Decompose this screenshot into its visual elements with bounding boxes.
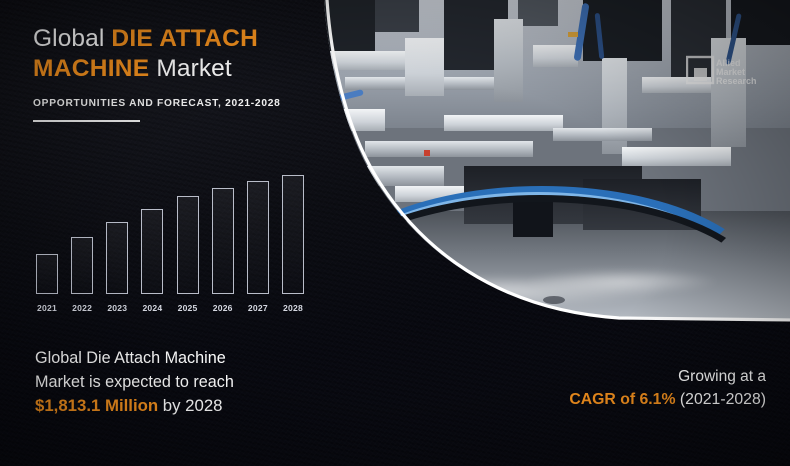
bar-2025 xyxy=(177,196,199,294)
bar-2026 xyxy=(212,188,234,294)
chart-x-axis-labels: 2021 2022 2023 2024 2025 2026 2027 2028 xyxy=(34,298,306,318)
x-label-2027: 2027 xyxy=(245,303,271,313)
title-plain-global: Global xyxy=(33,25,111,52)
bar-column xyxy=(245,181,271,294)
infographic-poster: Allied Market Research Global DIE ATTACH… xyxy=(0,0,790,466)
market-value-amount: $1,813.1 Million xyxy=(35,396,158,415)
market-growth-bar-chart: 2021 2022 2023 2024 2025 2026 2027 2028 xyxy=(34,176,306,318)
title-emphasis-die-attach: DIE ATTACH xyxy=(111,25,258,52)
title-line-1: Global DIE ATTACH xyxy=(33,24,303,54)
bar-2021 xyxy=(36,254,58,294)
bar-2022 xyxy=(71,237,93,294)
cagr-period: (2021-2028) xyxy=(676,391,766,408)
bar-column xyxy=(69,237,95,294)
bar-2028 xyxy=(282,175,304,294)
bar-column xyxy=(175,196,201,294)
bar-column xyxy=(280,175,306,294)
title-line-2: MACHINE Market xyxy=(33,54,303,84)
statement-year-tail: by 2028 xyxy=(158,396,222,415)
statement-line-2: Market is expected to reach xyxy=(35,370,300,394)
statement-line-1: Global Die Attach Machine xyxy=(35,346,300,370)
bar-column xyxy=(104,222,130,294)
cagr-intro-text: Growing at a xyxy=(569,366,766,388)
chart-bars xyxy=(34,174,306,294)
x-label-2023: 2023 xyxy=(104,303,130,313)
bar-2027 xyxy=(247,181,269,294)
bar-column xyxy=(210,188,236,294)
bar-column xyxy=(139,209,165,294)
bar-2024 xyxy=(141,209,163,294)
allied-market-research-watermark: Allied Market Research xyxy=(686,54,772,88)
x-label-2026: 2026 xyxy=(210,303,236,313)
x-label-2025: 2025 xyxy=(175,303,201,313)
statement-line-3: $1,813.1 Million by 2028 xyxy=(35,394,300,418)
watermark-line3: Research xyxy=(716,76,757,86)
cagr-callout: Growing at a CAGR of 6.1% (2021-2028) xyxy=(569,366,766,411)
x-label-2028: 2028 xyxy=(280,303,306,313)
title-plain-market: Market xyxy=(149,55,231,82)
title-divider xyxy=(33,120,140,122)
x-label-2022: 2022 xyxy=(69,303,95,313)
subtitle: OPPORTUNITIES AND FORECAST, 2021-2028 xyxy=(33,98,303,109)
cagr-value: CAGR of 6.1% xyxy=(569,391,675,408)
cagr-value-line: CAGR of 6.1% (2021-2028) xyxy=(569,388,766,411)
title-block: Global DIE ATTACH MACHINE Market OPPORTU… xyxy=(33,24,303,122)
title-emphasis-machine: MACHINE xyxy=(33,55,149,82)
bar-2023 xyxy=(106,222,128,294)
market-value-statement: Global Die Attach Machine Market is expe… xyxy=(35,346,300,418)
x-label-2021: 2021 xyxy=(34,303,60,313)
bar-column xyxy=(34,254,60,294)
x-label-2024: 2024 xyxy=(139,303,165,313)
